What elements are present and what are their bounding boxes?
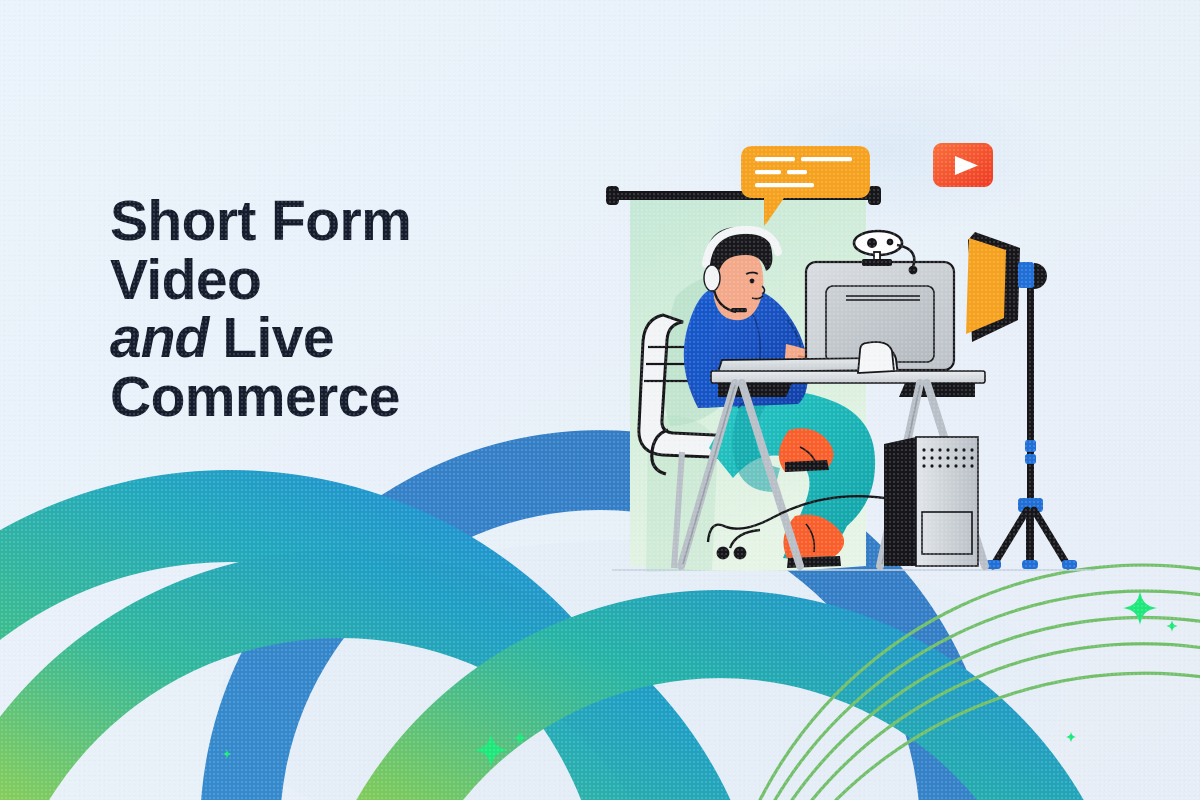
desk-top bbox=[711, 371, 985, 383]
light-collar bbox=[1018, 262, 1034, 288]
headset-mic-icon bbox=[731, 308, 747, 312]
tripod-stand bbox=[986, 440, 1077, 569]
youtube-play-badge[interactable] bbox=[933, 143, 993, 187]
coffee-mug bbox=[858, 342, 894, 373]
pc-tower bbox=[884, 437, 978, 566]
live-streaming-workspace-illustration bbox=[0, 0, 1200, 800]
poster-canvas: Short Form Video andLive Commerce bbox=[0, 0, 1200, 800]
